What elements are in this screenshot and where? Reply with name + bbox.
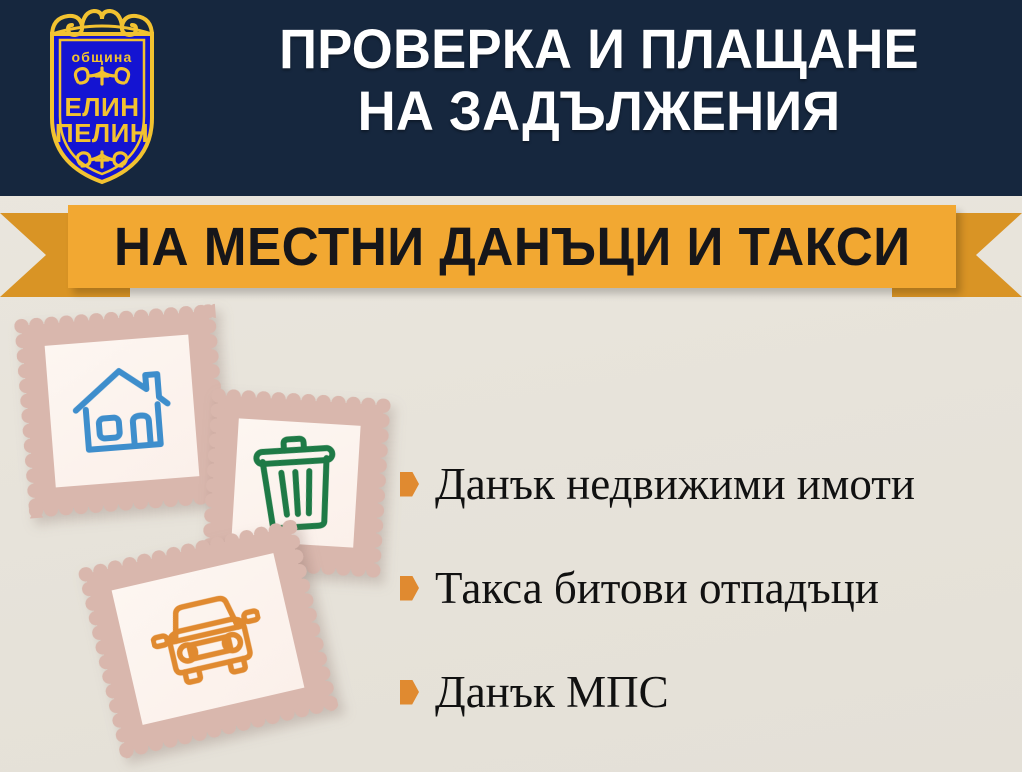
title-line-2: НА ЗАДЪЛЖЕНИЯ <box>215 80 984 142</box>
ribbon-label: НА МЕСТНИ ДАНЪЦИ И ТАКСИ <box>114 220 911 274</box>
poster-title: ПРОВЕРКА И ПЛАЩАНЕ НА ЗАДЪЛЖЕНИЯ <box>215 18 984 142</box>
title-line-1: ПРОВЕРКА И ПЛАЩАНЕ <box>215 18 984 80</box>
list-item[interactable]: Данък недвижими имоти <box>400 432 1010 536</box>
list-item-label: Данък недвижими имоти <box>435 462 915 507</box>
crest-svg: община ЕЛИН ПЕЛИН <box>22 6 182 189</box>
house-icon <box>66 359 177 463</box>
subtitle-ribbon: НА МЕСТНИ ДАНЪЦИ И ТАКСИ <box>0 196 1022 306</box>
arrow-bullet-icon <box>400 472 419 497</box>
list-item-label: Данък МПС <box>435 670 669 715</box>
list-item-label: Такса битови отпадъци <box>435 566 879 611</box>
municipality-crest-logo: община ЕЛИН ПЕЛИН <box>22 6 182 189</box>
list-item[interactable]: Такса битови отпадъци <box>400 536 1010 640</box>
stamp-paper <box>112 553 305 725</box>
stamp-paper <box>45 335 200 488</box>
arrow-bullet-icon <box>400 680 419 705</box>
tax-type-list: Данък недвижими имоти Такса битови отпад… <box>400 432 1010 744</box>
car-front-icon <box>144 585 272 694</box>
stamp-card-car <box>85 527 331 752</box>
crest-name-line2: ПЕЛИН <box>55 118 149 148</box>
arrow-bullet-icon <box>400 576 419 601</box>
crest-top-label: община <box>71 49 132 65</box>
ribbon-banner: НА МЕСТНИ ДАНЪЦИ И ТАКСИ <box>68 205 956 288</box>
list-item[interactable]: Данък МПС <box>400 640 1010 744</box>
poster-canvas: община ЕЛИН ПЕЛИН ПРОВЕРКА И ПЛАЩАНЕ НА … <box>0 0 1022 772</box>
stamp-card-house <box>21 311 223 511</box>
trash-can-icon <box>249 431 343 534</box>
